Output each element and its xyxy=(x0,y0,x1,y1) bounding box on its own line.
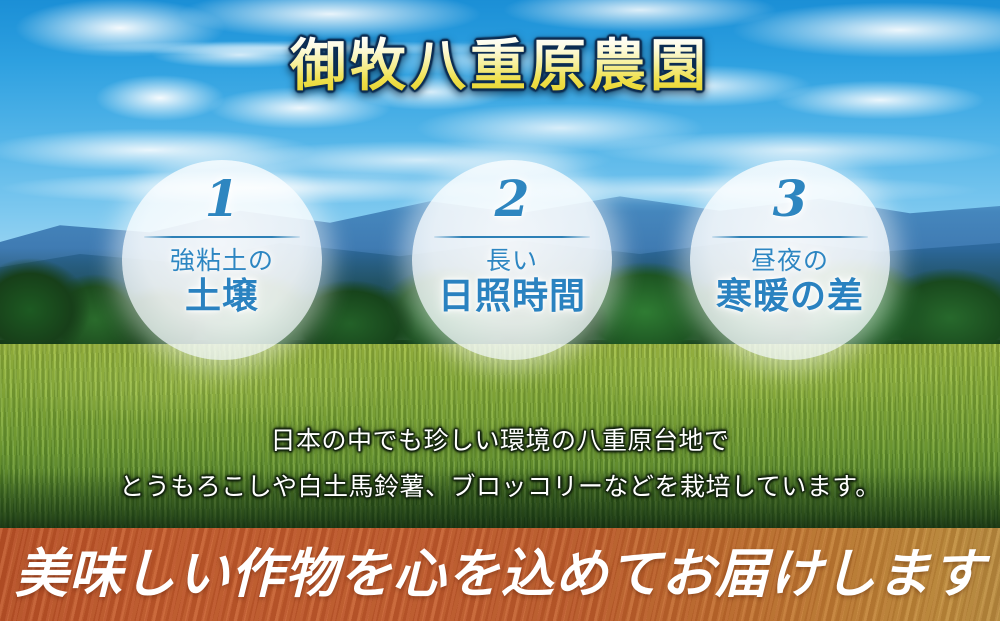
feature-2-number: 2 xyxy=(495,174,530,224)
promo-banner-image: 御牧八重原農園 1 強粘土の 土壌 2 長い 日照時間 3 昼夜の 寒暖の差 日… xyxy=(0,0,1000,621)
feature-circle-3: 3 昼夜の 寒暖の差 xyxy=(690,160,890,360)
description-line-1: 日本の中でも珍しい環境の八重原台地で xyxy=(0,418,1000,464)
description-line-2: とうもろこしや白土馬鈴薯、ブロッコリーなどを栽培しています。 xyxy=(0,464,1000,510)
feature-3-number: 3 xyxy=(773,174,808,224)
feature-2-subtitle: 長い xyxy=(486,247,538,275)
bottom-banner-text: 美味しい作物を心を込めてお届けします xyxy=(15,548,985,601)
feature-1-number: 1 xyxy=(205,174,240,224)
page-title: 御牧八重原農園 xyxy=(0,36,1000,96)
description-text: 日本の中でも珍しい環境の八重原台地で とうもろこしや白土馬鈴薯、ブロッコリーなど… xyxy=(0,418,1000,510)
feature-3-divider xyxy=(712,236,868,238)
feature-2-title: 日照時間 xyxy=(438,277,586,317)
feature-2-divider xyxy=(434,236,590,238)
feature-1-title: 土壌 xyxy=(185,277,259,317)
bottom-banner: 美味しい作物を心を込めてお届けします xyxy=(0,528,1000,621)
feature-3-subtitle: 昼夜の xyxy=(751,247,829,275)
feature-1-divider xyxy=(144,236,300,238)
feature-circle-1: 1 強粘土の 土壌 xyxy=(122,160,322,360)
feature-3-title: 寒暖の差 xyxy=(716,277,864,317)
feature-circle-2: 2 長い 日照時間 xyxy=(412,160,612,360)
feature-1-subtitle: 強粘土の xyxy=(170,247,274,275)
